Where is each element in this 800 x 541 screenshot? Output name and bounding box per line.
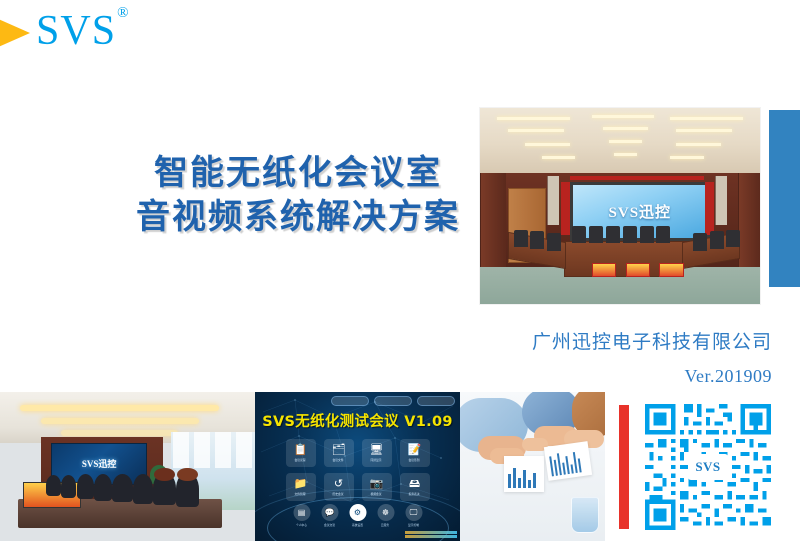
tile-video-conference[interactable]: 📷 视频会议 — [362, 473, 392, 501]
software-ui-screenshot: SVS无纸化测试会议 V1.09 📋 会议议程 🗂 会议文件 🖥 同屏显示 📝 … — [255, 392, 460, 541]
dock-item-cloud[interactable]: ☸ 云服务 — [377, 504, 394, 527]
tile-sign-in[interactable]: 📝 会议签到 — [400, 439, 430, 467]
tile-file-manager[interactable]: 📁 文件管理 — [286, 473, 316, 501]
camera-icon: 📷 — [370, 479, 384, 490]
gear-icon: ⚙ — [349, 504, 366, 521]
title-line-2: 音视频系统解决方案 — [108, 196, 488, 240]
tile-agenda[interactable]: 📋 会议议程 — [286, 439, 316, 467]
dock-label: 显示控制 — [408, 523, 419, 527]
software-top-buttons — [331, 396, 455, 406]
dock-label: 会议交流 — [324, 523, 335, 527]
slide-cover: SVS® SVS迅控 — [0, 0, 800, 541]
tile-screen-share[interactable]: 🖥 同屏显示 — [362, 439, 392, 467]
tile-label: 历史会议 — [333, 492, 344, 496]
tile-history[interactable]: ↺ 历史会议 — [324, 473, 354, 501]
chat-icon: 💬 — [321, 504, 338, 521]
tile-vote[interactable]: 🖴 投票表决 — [400, 473, 430, 501]
qr-code[interactable]: SVS — [645, 404, 771, 530]
dock-label: 云服务 — [381, 523, 389, 527]
company-name: 广州迅控电子科技有限公司 — [532, 327, 772, 354]
button-exit-system[interactable] — [417, 396, 455, 406]
water-glass — [571, 497, 599, 533]
logo-triangle-icon — [0, 18, 30, 48]
dock-item-chat[interactable]: 💬 会议交流 — [321, 504, 338, 527]
software-dock: ▤ 个人中心 💬 会议交流 ⚙ 系统设置 ☸ 云服务 🖵 显示控制 — [293, 504, 422, 527]
qr-center-logo: SVS — [688, 454, 728, 480]
folder-icon: 📁 — [294, 479, 308, 490]
dock-item-settings[interactable]: ⚙ 系统设置 — [349, 504, 366, 527]
vote-icon: 🖴 — [409, 479, 420, 490]
tile-label: 会议议程 — [295, 458, 306, 462]
button-manage-settings[interactable] — [331, 396, 369, 406]
history-icon: ↺ — [334, 479, 343, 490]
documents-icon: 🗂 — [332, 445, 346, 456]
registered-trademark-icon: ® — [117, 5, 129, 21]
accent-bar — [769, 110, 800, 287]
photo-meeting-room: SVS迅控 — [0, 392, 255, 541]
software-tile-grid: 📋 会议议程 🗂 会议文件 🖥 同屏显示 📝 会议签到 📁 文件管 — [286, 439, 430, 501]
sign-in-icon: 📝 — [408, 445, 422, 456]
tile-label: 投票表决 — [409, 492, 420, 496]
tile-documents[interactable]: 🗂 会议文件 — [324, 439, 354, 467]
svs-logo: SVS® — [0, 12, 128, 54]
photo-screen-label: SVS迅控 — [82, 457, 117, 470]
qr-logo-text: SVS — [695, 459, 720, 475]
tile-label: 会议文件 — [333, 458, 344, 462]
tile-label: 会议签到 — [409, 458, 420, 462]
bottom-image-strip: SVS迅控 — [0, 392, 800, 541]
hero-conference-room-image: SVS迅控 — [480, 108, 760, 304]
logo-text: SVS — [36, 8, 116, 54]
button-end-meeting[interactable] — [374, 396, 412, 406]
room-screen-label: SVS迅控 — [609, 201, 672, 222]
dock-item-personal[interactable]: ▤ 个人中心 — [293, 504, 310, 527]
logo-wordmark: SVS® — [36, 10, 128, 52]
qrcode-block: SVS — [605, 392, 800, 541]
red-accent-bar — [619, 405, 629, 529]
personal-icon: ▤ — [293, 504, 310, 521]
tile-label: 文件管理 — [295, 492, 306, 496]
dock-label: 个人中心 — [296, 523, 307, 527]
dock-label: 系统设置 — [352, 523, 363, 527]
dock-item-display[interactable]: 🖵 显示控制 — [405, 504, 422, 527]
title-line-1: 智能无纸化会议室 — [108, 152, 488, 196]
tile-label: 同屏显示 — [371, 458, 382, 462]
agenda-icon: 📋 — [294, 445, 308, 456]
page-title: 智能无纸化会议室 音视频系统解决方案 — [108, 152, 488, 239]
version-label: Ver.201909 — [532, 366, 772, 387]
tile-label: 视频会议 — [371, 492, 382, 496]
display-icon: 🖵 — [405, 504, 422, 521]
software-title: SVS无纸化测试会议 V1.09 — [255, 410, 460, 431]
company-block: 广州迅控电子科技有限公司 Ver.201909 — [532, 327, 772, 387]
photo-business-meeting — [460, 392, 605, 541]
cloud-icon: ☸ — [377, 504, 394, 521]
screen-share-icon: 🖥 — [370, 445, 384, 456]
ceiling — [480, 108, 760, 173]
status-ticker — [405, 531, 457, 538]
